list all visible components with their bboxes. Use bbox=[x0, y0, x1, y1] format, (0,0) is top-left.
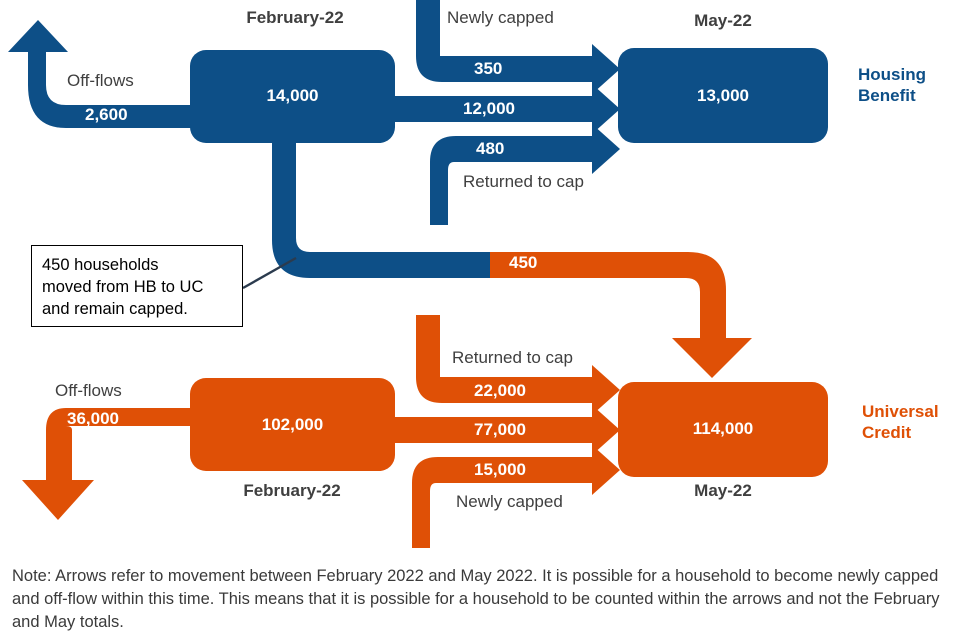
hb-offflow-label: Off-flows bbox=[67, 71, 134, 91]
uc-offflow-label: Off-flows bbox=[55, 381, 122, 401]
hb-feb-period-label: February-22 bbox=[225, 8, 365, 28]
cross-flow-value: 450 bbox=[509, 253, 537, 273]
uc-remained-value: 77,000 bbox=[474, 420, 526, 440]
callout-line-2: moved from HB to UC bbox=[42, 278, 203, 296]
hb-offflow-value: 2,600 bbox=[85, 105, 128, 125]
uc-may-period-label: May-22 bbox=[653, 481, 793, 501]
uc-returned-label: Returned to cap bbox=[452, 348, 573, 368]
uc-side-label-line1: Universal bbox=[862, 402, 939, 421]
uc-may-value: 114,000 bbox=[618, 419, 828, 439]
hb-remained-value: 12,000 bbox=[463, 99, 515, 119]
hb-feb-value: 14,000 bbox=[190, 86, 395, 106]
callout-line-1: 450 households bbox=[42, 256, 159, 274]
hb-side-label-line1: Housing bbox=[858, 65, 926, 84]
callout-line-3: and remain capped. bbox=[42, 300, 188, 318]
uc-side-label-line2: Credit bbox=[862, 423, 911, 442]
uc-newly-capped-value: 15,000 bbox=[474, 460, 526, 480]
hb-returned-label: Returned to cap bbox=[463, 172, 584, 192]
callout-box: 450 householdsmoved from HB to UCand rem… bbox=[31, 245, 243, 327]
hb-flows bbox=[8, 0, 828, 225]
uc-feb-value: 102,000 bbox=[190, 415, 395, 435]
footnote: Note: Arrows refer to movement between F… bbox=[12, 565, 942, 634]
uc-side-label: UniversalCredit bbox=[862, 401, 939, 443]
hb-newly-capped-value: 350 bbox=[474, 59, 502, 79]
hb-may-value: 13,000 bbox=[618, 86, 828, 106]
hb-side-label-line2: Benefit bbox=[858, 86, 916, 105]
hb-may-period-label: May-22 bbox=[653, 11, 793, 31]
uc-feb-period-label: February-22 bbox=[222, 481, 362, 501]
uc-returned-value: 22,000 bbox=[474, 381, 526, 401]
uc-offflow-value: 36,000 bbox=[67, 409, 119, 429]
hb-returned-value: 480 bbox=[476, 139, 504, 159]
cross-flow-blue-segment bbox=[272, 143, 490, 278]
hb-side-label: HousingBenefit bbox=[858, 64, 926, 106]
uc-newly-capped-label: Newly capped bbox=[456, 492, 563, 512]
hb-newly-capped-label: Newly capped bbox=[447, 8, 554, 28]
flow-diagram-canvas: February-22 May-22 14,000 13,000 Housing… bbox=[0, 0, 960, 640]
callout-text: 450 householdsmoved from HB to UCand rem… bbox=[42, 254, 203, 320]
